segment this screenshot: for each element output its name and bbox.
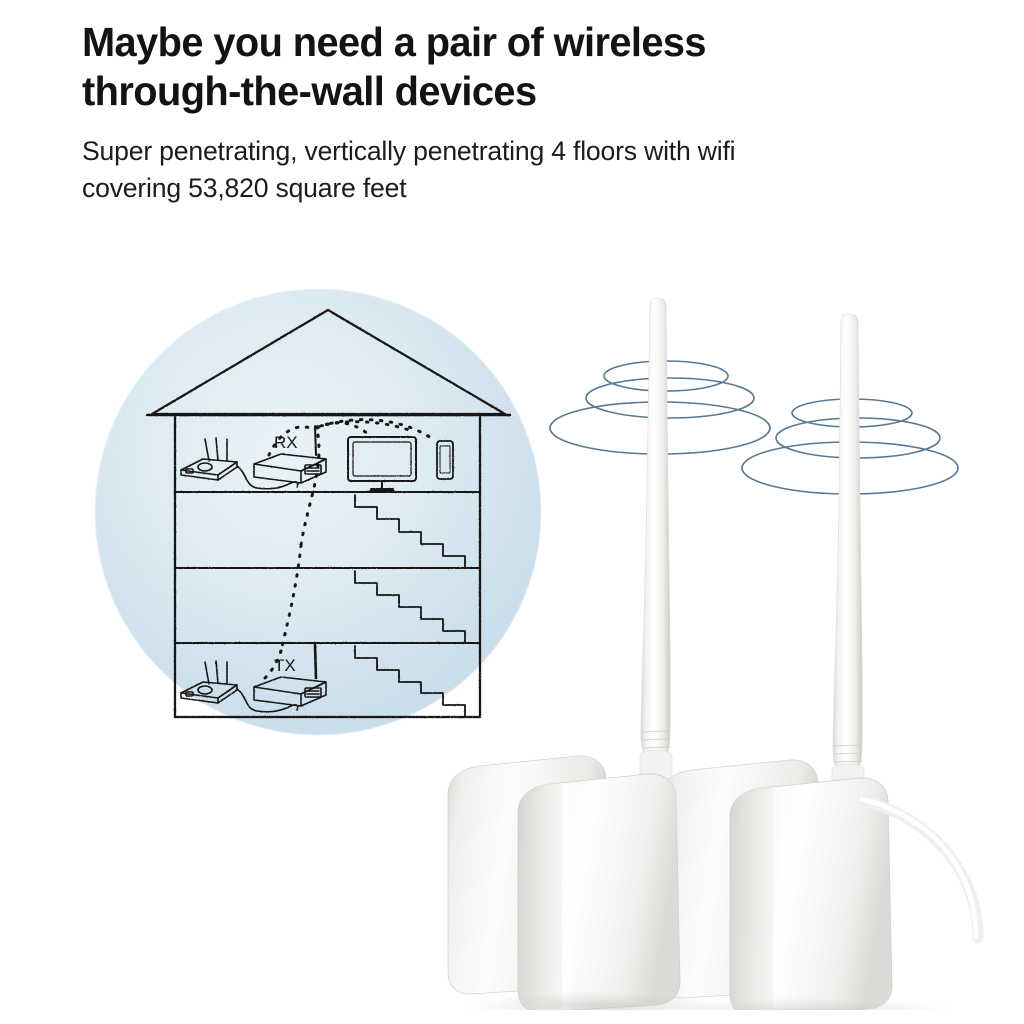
wifi-router-top xyxy=(181,438,237,480)
wifi-router-bottom xyxy=(181,661,237,703)
bottom-floor-equipment: TX xyxy=(181,645,326,712)
transmitter-device xyxy=(237,645,326,712)
product-photo-svg xyxy=(430,270,1024,1010)
product-photo xyxy=(430,270,1024,1010)
product-image-canvas: Maybe you need a pair of wireless throug… xyxy=(0,0,1024,1024)
marketing-text-block: Maybe you need a pair of wireless throug… xyxy=(82,18,912,207)
television xyxy=(348,437,416,491)
page-subtitle: Super penetrating, vertically penetratin… xyxy=(82,116,900,207)
tx-label: TX xyxy=(274,656,296,675)
rx-label: RX xyxy=(274,433,298,452)
page-title: Maybe you need a pair of wireless throug… xyxy=(82,18,887,116)
antenna-right xyxy=(800,314,864,828)
antenna-left xyxy=(608,298,672,814)
wall-mount-unit-left xyxy=(448,756,680,1010)
